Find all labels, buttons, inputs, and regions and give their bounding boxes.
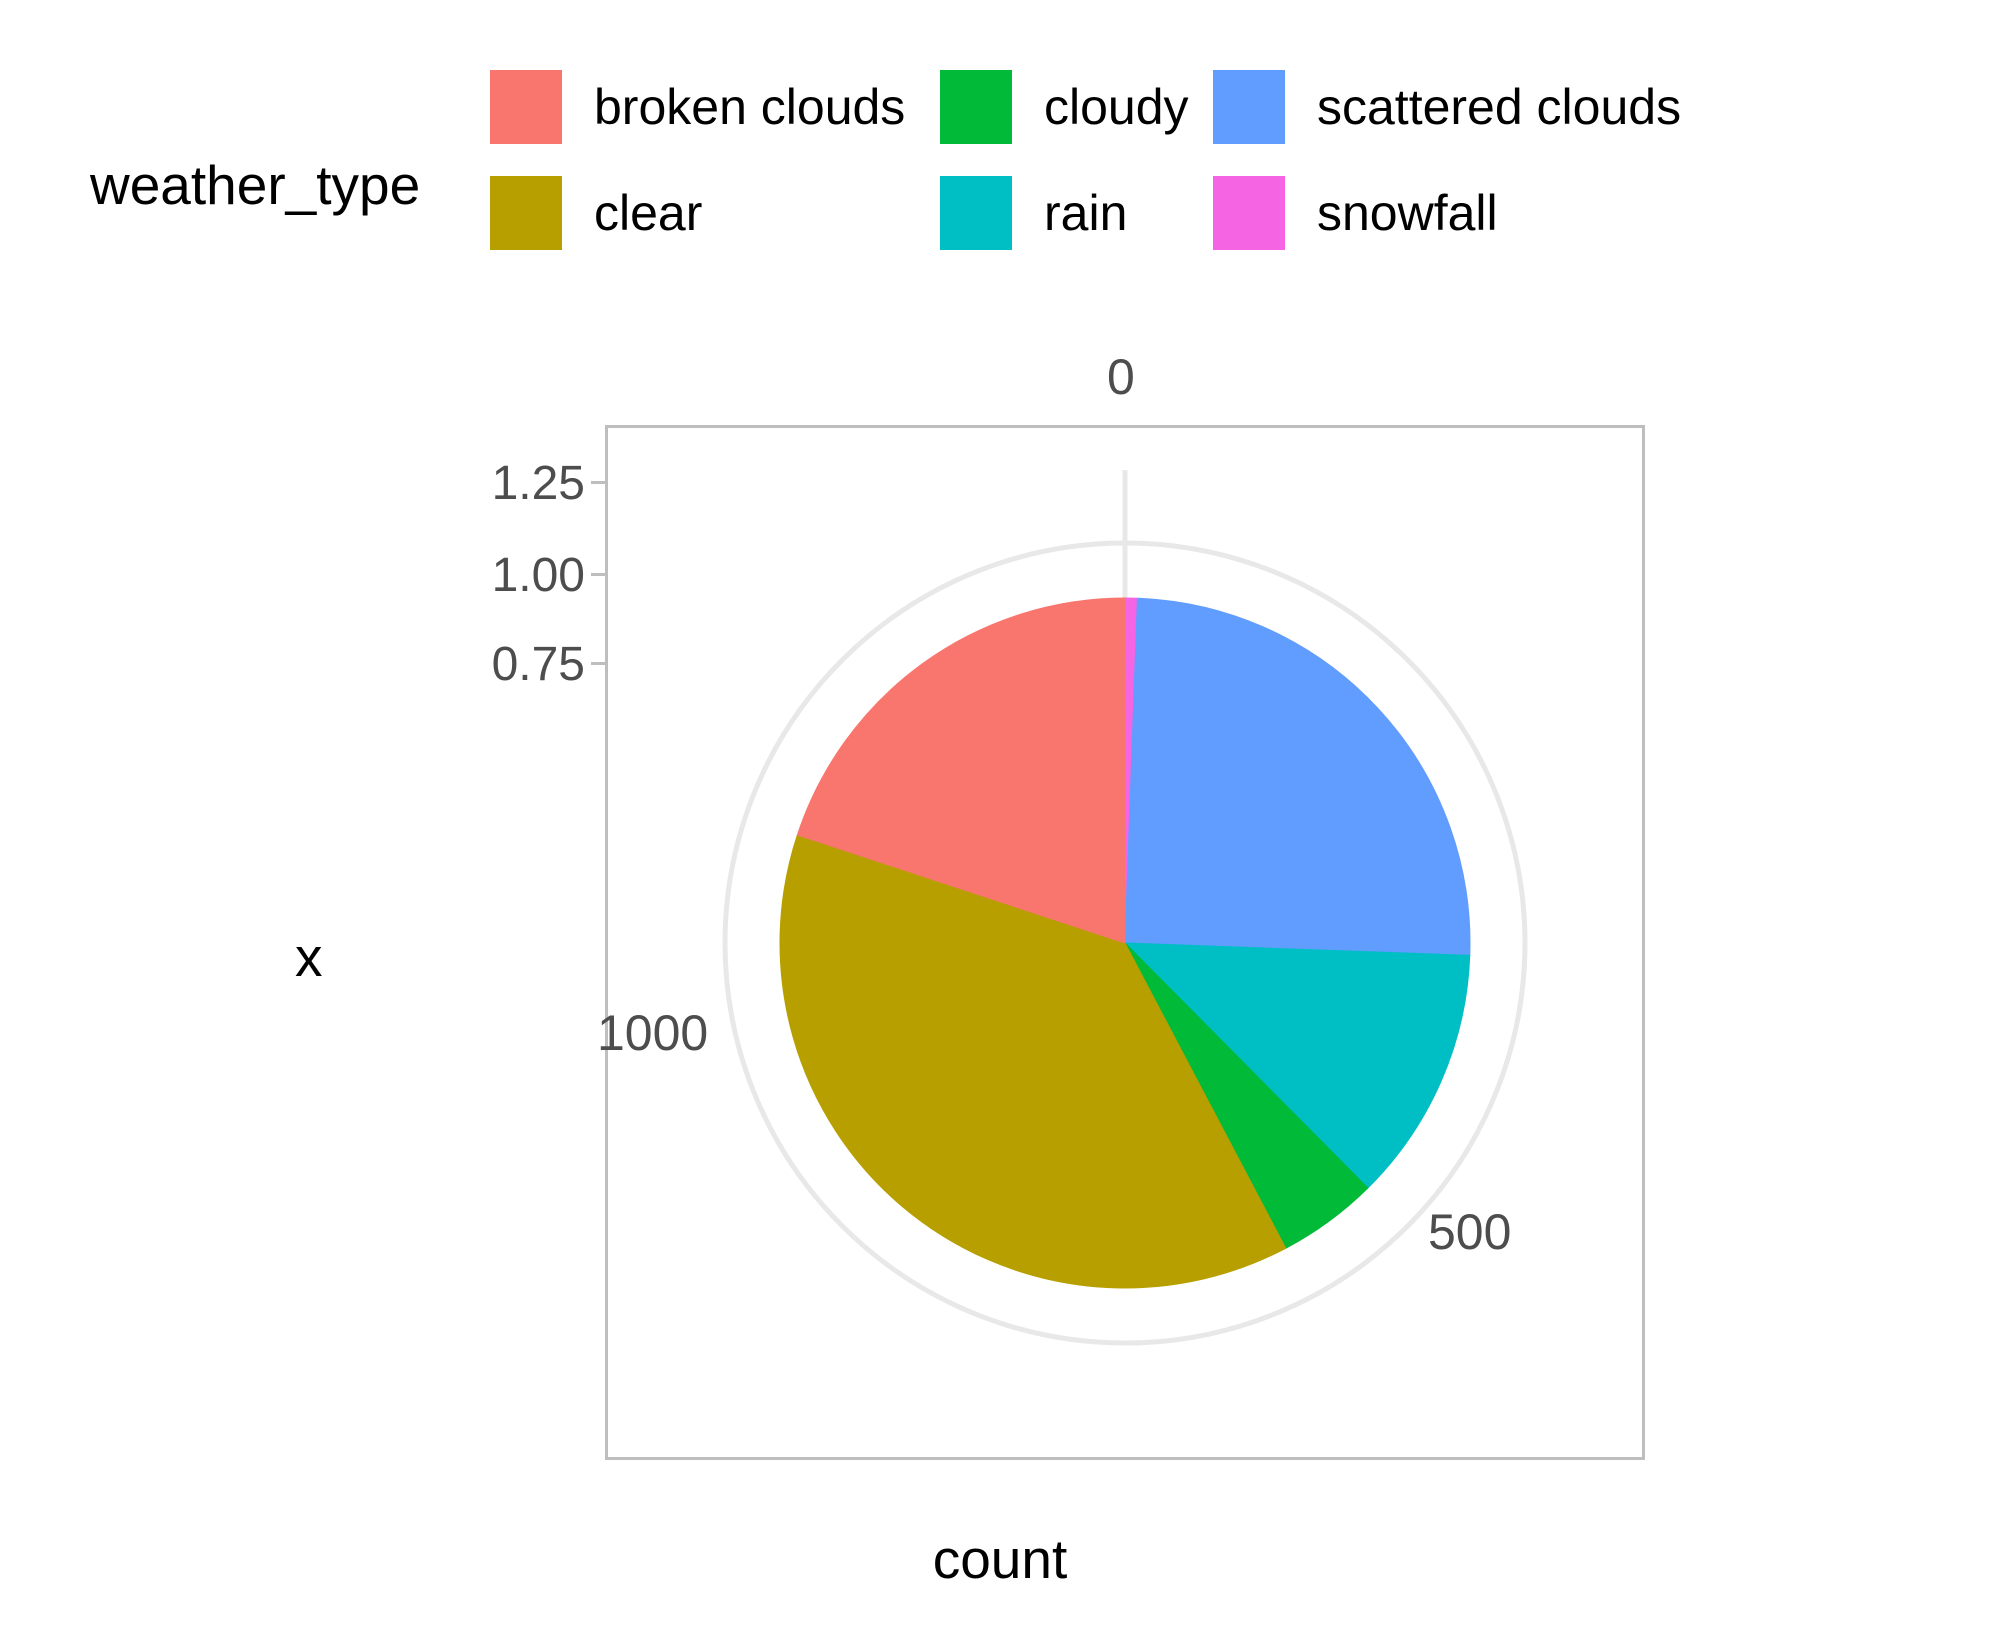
pie-slice-scattered-clouds[interactable] [1125, 598, 1470, 955]
pie-chart [0, 0, 2000, 1639]
pie-slices [780, 598, 1470, 1288]
